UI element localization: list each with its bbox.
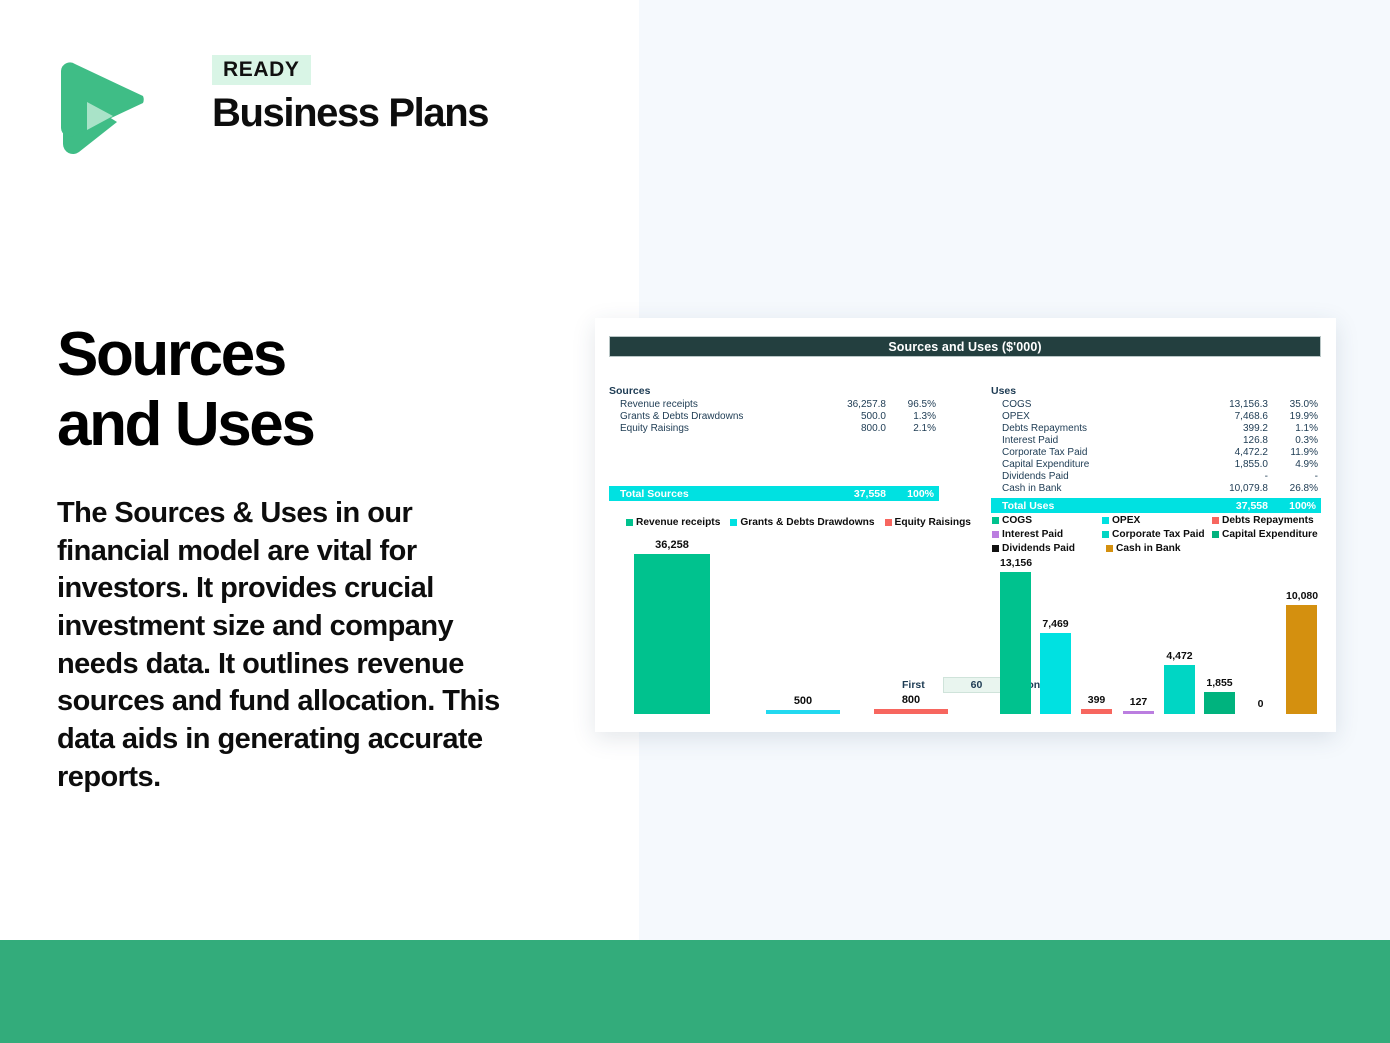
- brand-wordmark: READY Business Plans: [212, 55, 488, 134]
- legend-row: Dividends Paid Cash in Bank: [992, 543, 1322, 554]
- bar-slot: 0: [1245, 713, 1276, 714]
- row-label: Equity Raisings: [609, 423, 824, 434]
- total-value: 37,558: [1206, 500, 1268, 512]
- bar-slot: 127: [1123, 711, 1154, 714]
- uses-chart-legend: COGS OPEX Debts Repayments Interest Paid…: [992, 515, 1322, 557]
- bar-slot: 500: [766, 710, 840, 714]
- sources-header: Sources: [609, 384, 939, 398]
- bar: [634, 554, 710, 714]
- row-value: 4,472.2: [1206, 447, 1268, 458]
- sources-table: Sources Revenue receipts 36,257.8 96.5% …: [609, 384, 939, 501]
- bar: [1286, 605, 1317, 714]
- legend-label: Cash in Bank: [1116, 543, 1181, 554]
- legend-row: Revenue receipts Grants & Debts Drawdown…: [626, 517, 956, 528]
- legend-swatch-icon: [1102, 517, 1109, 524]
- bar: [1245, 713, 1276, 714]
- total-value: 37,558: [824, 488, 886, 500]
- bar-slot: 1,855: [1204, 692, 1235, 714]
- table-row: Debts Repayments 399.2 1.1%: [991, 422, 1321, 434]
- legend-swatch-icon: [992, 531, 999, 538]
- table-row: Capital Expenditure 1,855.0 4.9%: [991, 458, 1321, 470]
- page-title-line2: and Uses: [57, 390, 577, 460]
- row-value: -: [1206, 471, 1268, 482]
- bar: [874, 709, 948, 714]
- bar: [1164, 665, 1195, 714]
- total-label: Total Uses: [991, 500, 1206, 512]
- table-row: Cash in Bank 10,079.8 26.8%: [991, 482, 1321, 494]
- table-row: Dividends Paid - -: [991, 470, 1321, 482]
- row-percent: 11.9%: [1268, 447, 1318, 458]
- legend-swatch-icon: [730, 519, 737, 526]
- legend-label: OPEX: [1112, 515, 1140, 526]
- page-title-line1: Sources: [57, 320, 285, 389]
- row-percent: 26.8%: [1268, 483, 1318, 494]
- bar: [1123, 711, 1154, 714]
- legend-item: COGS: [992, 515, 1102, 526]
- bar-value-label: 127: [1123, 696, 1154, 708]
- legend-item: Grants & Debts Drawdowns: [730, 517, 874, 528]
- bar: [766, 710, 840, 714]
- page-description: The Sources & Uses in our financial mode…: [57, 495, 512, 797]
- bar-value-label: 13,156: [1000, 557, 1031, 569]
- row-value: 500.0: [824, 411, 886, 422]
- bar: [1204, 692, 1235, 714]
- row-label: Debts Repayments: [991, 423, 1206, 434]
- row-percent: 4.9%: [1268, 459, 1318, 470]
- legend-swatch-icon: [1106, 545, 1113, 552]
- legend-swatch-icon: [885, 519, 892, 526]
- row-value: 10,079.8: [1206, 483, 1268, 494]
- table-row: Corporate Tax Paid 4,472.2 11.9%: [991, 446, 1321, 458]
- row-label: Grants & Debts Drawdowns: [609, 411, 824, 422]
- legend-swatch-icon: [992, 517, 999, 524]
- row-label: Dividends Paid: [991, 471, 1206, 482]
- bar-slot: 399: [1081, 709, 1112, 714]
- bar-value-label: 800: [874, 694, 948, 706]
- legend-label: Revenue receipts: [636, 517, 720, 528]
- row-value: 126.8: [1206, 435, 1268, 446]
- legend-item: Dividends Paid: [992, 543, 1106, 554]
- total-label: Total Sources: [609, 488, 824, 500]
- legend-swatch-icon: [1102, 531, 1109, 538]
- table-row: Grants & Debts Drawdowns 500.0 1.3%: [609, 410, 939, 422]
- legend-row: COGS OPEX Debts Repayments: [992, 515, 1322, 526]
- background-band-bottom: [0, 940, 1390, 1043]
- bar-value-label: 500: [766, 695, 840, 707]
- legend-swatch-icon: [1212, 517, 1219, 524]
- bar-value-label: 1,855: [1204, 677, 1235, 689]
- legend-row: Interest Paid Corporate Tax Paid Capital…: [992, 529, 1322, 540]
- row-value: 13,156.3: [1206, 399, 1268, 410]
- bar-slot: 36,258: [634, 554, 710, 714]
- total-percent: 100%: [1268, 500, 1318, 512]
- legend-label: COGS: [1002, 515, 1032, 526]
- sources-table-spacer: [609, 434, 939, 482]
- bar-value-label: 10,080: [1286, 590, 1317, 602]
- row-value: 800.0: [824, 423, 886, 434]
- bar-slot: 800: [874, 709, 948, 714]
- legend-item: Cash in Bank: [1106, 543, 1220, 554]
- row-label: Interest Paid: [991, 435, 1206, 446]
- sources-chart-legend: Revenue receipts Grants & Debts Drawdown…: [626, 517, 956, 531]
- legend-label: Equity Raisings: [895, 517, 971, 528]
- row-label: OPEX: [991, 411, 1206, 422]
- table-row: Interest Paid 126.8 0.3%: [991, 434, 1321, 446]
- table-row: Revenue receipts 36,257.8 96.5%: [609, 398, 939, 410]
- bar-slot: 10,080: [1286, 605, 1317, 714]
- row-percent: 19.9%: [1268, 411, 1318, 422]
- row-value: 1,855.0: [1206, 459, 1268, 470]
- bar-value-label: 4,472: [1164, 650, 1195, 662]
- bar-slot: 13,156: [1000, 572, 1031, 714]
- table-row: Equity Raisings 800.0 2.1%: [609, 422, 939, 434]
- row-percent: 96.5%: [886, 399, 936, 410]
- row-label: Revenue receipts: [609, 399, 824, 410]
- legend-label: Capital Expenditure: [1222, 529, 1318, 540]
- row-percent: 2.1%: [886, 423, 936, 434]
- row-value: 36,257.8: [824, 399, 886, 410]
- sources-bar-chart: 36,258 500 800: [626, 552, 961, 720]
- bar: [1000, 572, 1031, 714]
- row-percent: 0.3%: [1268, 435, 1318, 446]
- legend-swatch-icon: [626, 519, 633, 526]
- table-row: OPEX 7,468.6 19.9%: [991, 410, 1321, 422]
- legend-swatch-icon: [992, 545, 999, 552]
- page-title: Sources and Uses: [57, 320, 577, 460]
- uses-bar-chart: 13,156 7,469 399 127 4,472 1,855 0 10,0: [992, 560, 1322, 720]
- play-triangle-logo-icon: [57, 58, 154, 155]
- ready-badge: READY: [212, 55, 311, 85]
- row-label: Capital Expenditure: [991, 459, 1206, 470]
- row-percent: 1.1%: [1268, 423, 1318, 434]
- bar-value-label: 7,469: [1040, 618, 1071, 630]
- row-percent: 35.0%: [1268, 399, 1318, 410]
- legend-item: Corporate Tax Paid: [1102, 529, 1212, 540]
- row-percent: -: [1268, 471, 1318, 482]
- legend-item: Interest Paid: [992, 529, 1102, 540]
- table-row: COGS 13,156.3 35.0%: [991, 398, 1321, 410]
- legend-label: Corporate Tax Paid: [1112, 529, 1205, 540]
- legend-item: Debts Repayments: [1212, 515, 1322, 526]
- bar: [1040, 633, 1071, 714]
- spreadsheet-title: Sources and Uses ($'000): [609, 336, 1321, 357]
- legend-item: Capital Expenditure: [1212, 529, 1322, 540]
- brand-name: Business Plans: [212, 92, 488, 134]
- row-value: 399.2: [1206, 423, 1268, 434]
- slide-root: READY Business Plans Sources and Uses Th…: [0, 0, 1390, 1043]
- brand-logo: READY Business Plans: [57, 55, 477, 160]
- legend-item: OPEX: [1102, 515, 1212, 526]
- legend-item: Revenue receipts: [626, 517, 720, 528]
- bar-value-label: 399: [1081, 694, 1112, 706]
- uses-total-row: Total Uses 37,558 100%: [991, 498, 1321, 513]
- sources-total-row: Total Sources 37,558 100%: [609, 486, 939, 501]
- legend-label: Debts Repayments: [1222, 515, 1314, 526]
- bar-value-label: 36,258: [634, 539, 710, 551]
- uses-table: Uses COGS 13,156.3 35.0% OPEX 7,468.6 19…: [991, 384, 1321, 513]
- legend-label: Interest Paid: [1002, 529, 1063, 540]
- legend-item: Equity Raisings: [885, 517, 971, 528]
- row-value: 7,468.6: [1206, 411, 1268, 422]
- total-percent: 100%: [886, 488, 936, 500]
- row-label: COGS: [991, 399, 1206, 410]
- row-label: Cash in Bank: [991, 483, 1206, 494]
- bar-slot: 4,472: [1164, 665, 1195, 714]
- legend-swatch-icon: [1212, 531, 1219, 538]
- row-label: Corporate Tax Paid: [991, 447, 1206, 458]
- legend-label: Grants & Debts Drawdowns: [740, 517, 874, 528]
- row-percent: 1.3%: [886, 411, 936, 422]
- bar-slot: 7,469: [1040, 633, 1071, 714]
- bar: [1081, 709, 1112, 714]
- legend-label: Dividends Paid: [1002, 543, 1075, 554]
- uses-header: Uses: [991, 384, 1321, 398]
- bar-value-label: 0: [1245, 698, 1276, 710]
